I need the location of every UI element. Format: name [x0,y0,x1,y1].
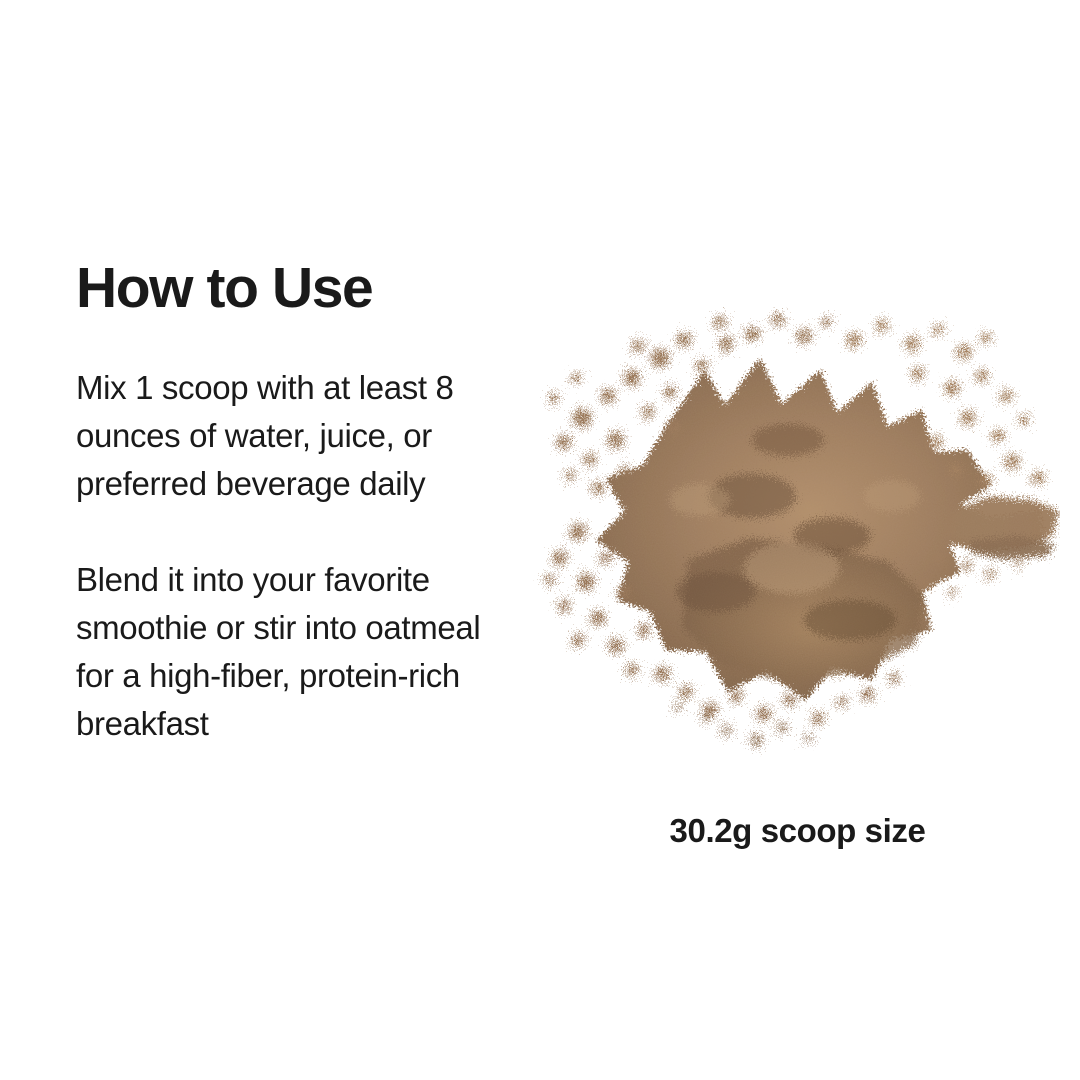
instructions-column: How to Use Mix 1 scoop with at least 8 o… [76,258,496,748]
how-to-use-panel: How to Use Mix 1 scoop with at least 8 o… [0,0,1080,1080]
powder-spray-bottom [674,702,812,746]
page-title: How to Use [76,258,496,320]
instruction-paragraph-1: Mix 1 scoop with at least 8 ounces of wa… [76,364,496,508]
scoop-size-caption: 30.2g scoop size [520,812,1075,850]
powder-pile-illustration [520,300,1060,770]
powder-pile-image [520,300,1060,770]
instruction-paragraph-2: Blend it into your favorite smoothie or … [76,556,496,748]
